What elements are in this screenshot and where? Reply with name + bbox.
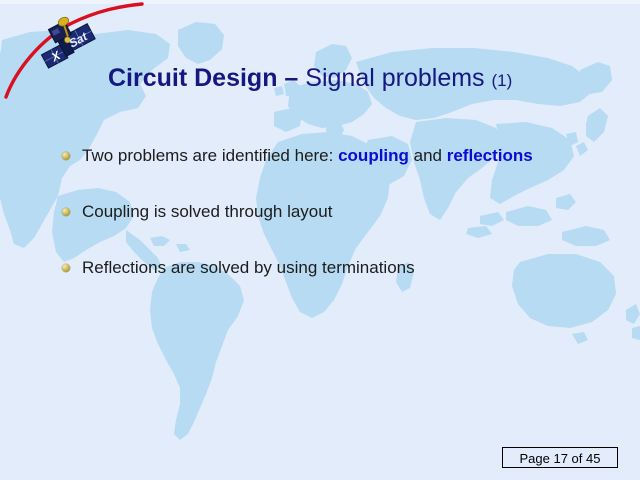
list-item-text: Reflections are solved by using terminat… <box>82 258 415 277</box>
gold-sphere-bullet-icon <box>62 208 70 216</box>
bullet-1-seg-0: Two problems are identified here: <box>82 146 338 165</box>
gold-sphere-bullet-icon <box>62 152 70 160</box>
list-item: Reflections are solved by using terminat… <box>62 255 622 281</box>
bullet-3-seg-0: Reflections are solved by using terminat… <box>82 258 415 277</box>
list-item-text: Coupling is solved through layout <box>82 202 332 221</box>
xsat-satellite-logo: X Sat <box>33 13 103 71</box>
slide-title-bold: Circuit Design <box>108 64 277 92</box>
presentation-slide: X Sat Circuit Design – Signal problems (… <box>0 0 640 480</box>
bullet-1-seg-2: and <box>409 146 447 165</box>
bullet-1-seg-1: coupling <box>338 146 409 165</box>
slide-title-suffix: (1) <box>492 71 513 90</box>
slide-title-dash: – <box>277 64 305 92</box>
list-item: Coupling is solved through layout <box>62 199 622 225</box>
bullet-list: Two problems are identified here: coupli… <box>62 143 622 311</box>
bullet-1-seg-3: reflections <box>447 146 533 165</box>
slide-title-normal: Signal problems <box>305 64 484 92</box>
gold-sphere-bullet-icon <box>62 264 70 272</box>
page-number-box: Page 17 of 45 <box>502 447 618 468</box>
list-item-text: Two problems are identified here: coupli… <box>82 146 533 165</box>
list-item: Two problems are identified here: coupli… <box>62 143 622 169</box>
bullet-2-seg-0: Coupling is solved through layout <box>82 202 332 221</box>
slide-title: Circuit Design – Signal problems (1) <box>108 62 512 97</box>
